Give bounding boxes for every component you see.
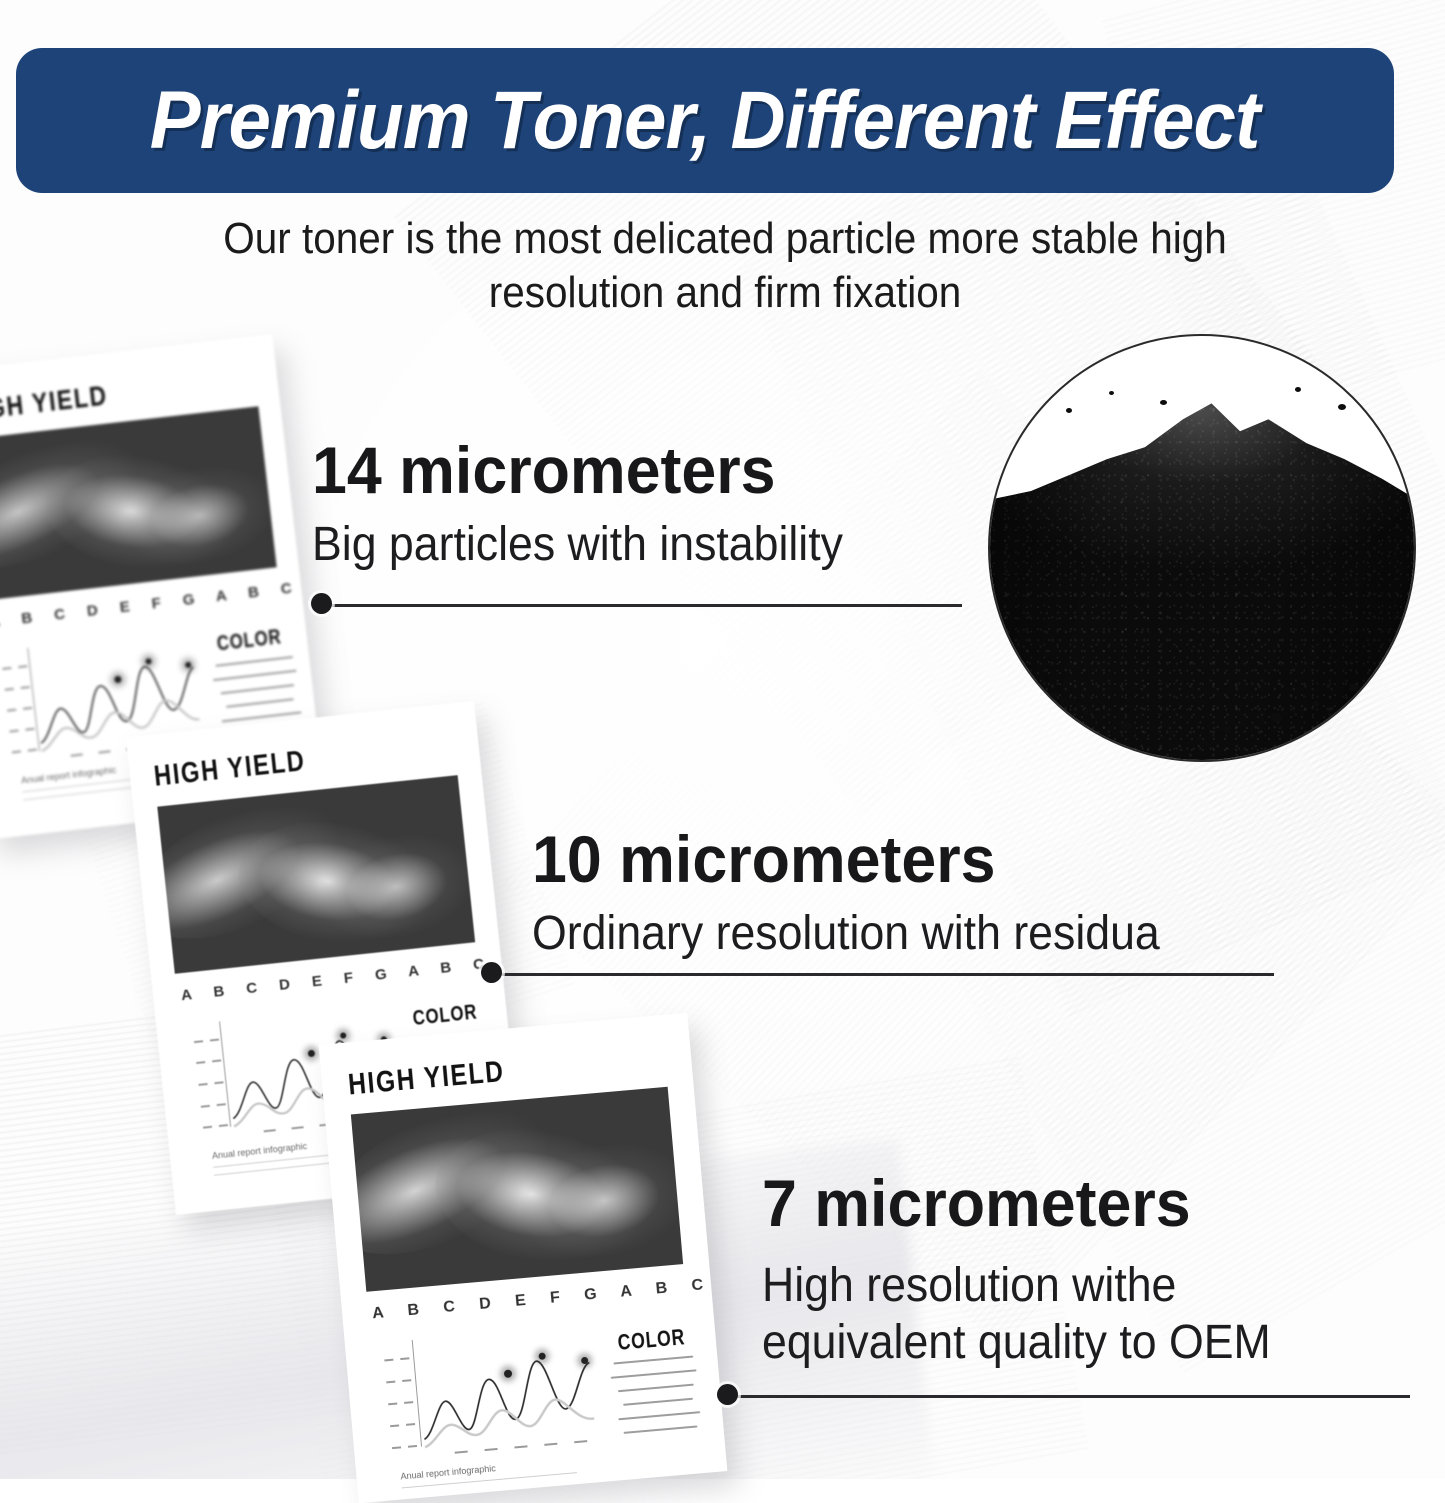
toner-pile	[988, 395, 1416, 762]
subtitle-text: Our toner is the most delicated particle…	[141, 212, 1309, 319]
feature-description: Ordinary resolution with residua	[532, 906, 1239, 963]
color-text-line	[221, 684, 295, 694]
page-sample-chart	[383, 1323, 615, 1464]
feature-value: 14 micrometers	[312, 437, 977, 503]
feature-connector-dot-2	[481, 962, 502, 983]
color-text-line	[624, 1425, 698, 1433]
page-sample-heading: HIGH YIELD	[0, 379, 109, 427]
chart-lines	[383, 1323, 615, 1464]
feature-rule-2	[492, 973, 1274, 976]
feature-block-10um: 10 micrometers Ordinary resolution with …	[532, 826, 1292, 963]
feature-connector-dot-3	[717, 1384, 738, 1405]
page-sample-photo	[351, 1087, 683, 1292]
toner-spray-particle	[1312, 701, 1319, 707]
feature-description-line-1: High resolution withe	[762, 1258, 1376, 1315]
header-banner: Premium Toner, Different Effect	[16, 48, 1394, 193]
feature-connector-dot-1	[311, 593, 332, 614]
color-text-line	[618, 1384, 694, 1393]
feature-value: 10 micrometers	[532, 826, 1254, 892]
toner-spray-particle	[1338, 404, 1346, 410]
toner-spray-particle	[1350, 684, 1359, 691]
toner-powder-circle-image	[988, 334, 1416, 762]
color-text-line	[618, 1411, 700, 1420]
toner-spray-particle	[1295, 387, 1301, 392]
toner-spray-particle	[1066, 408, 1072, 413]
toner-spray-particle	[1160, 400, 1167, 405]
toner-spray-particle	[1109, 391, 1114, 395]
color-text-line	[623, 1398, 693, 1406]
page-sample-photo	[0, 406, 277, 600]
toner-shading	[988, 395, 1416, 762]
feature-rule-3	[728, 1395, 1410, 1398]
color-text-line	[613, 1356, 693, 1365]
color-text-line	[215, 656, 293, 667]
color-text-line	[226, 698, 294, 708]
feature-value: 7 micrometers	[762, 1170, 1389, 1236]
page-sample-heading: HIGH YIELD	[152, 745, 307, 794]
color-text-line	[213, 670, 297, 681]
feature-rule-1	[322, 604, 962, 607]
feature-description: Big particles with instability	[312, 517, 963, 574]
page-sample-color-heading: COLOR	[617, 1324, 687, 1356]
color-text-line	[611, 1369, 697, 1378]
page-sample-color-heading: COLOR	[216, 625, 283, 656]
page-title: Premium Toner, Different Effect	[150, 80, 1260, 162]
feature-block-14um: 14 micrometers Big particles with instab…	[312, 437, 1012, 574]
page-sample-color-heading: COLOR	[412, 1000, 479, 1031]
feature-description-line-2: equivalent quality to OEM	[762, 1315, 1376, 1372]
printed-page-sample-3: HIGH YIELD A B C D E F G A B C D E F D G	[319, 1013, 728, 1503]
page-sample-heading: HIGH YIELD	[347, 1055, 506, 1103]
feature-block-7um: 7 micrometers High resolution withe equi…	[762, 1170, 1422, 1371]
page-sample-photo	[157, 775, 475, 974]
